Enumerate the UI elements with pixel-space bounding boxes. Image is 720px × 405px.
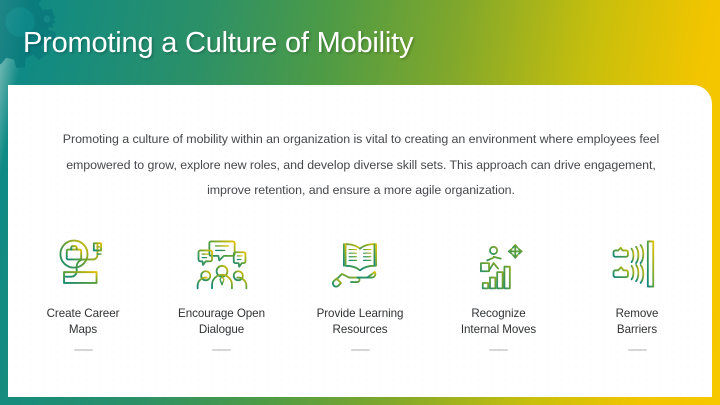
pillar-label-line2: Dialogue	[199, 323, 244, 336]
slide-canvas: Promoting a Culture of Mobility Promotin…	[0, 0, 720, 405]
pillar-label-line2: Barriers	[617, 323, 657, 336]
career-map-icon	[50, 233, 116, 295]
pillar-divider	[628, 349, 647, 352]
pillar-divider	[489, 349, 508, 352]
pillar-recognize-internal-moves[interactable]: Recognize Internal Moves	[430, 233, 568, 351]
career-ladder-move-icon	[466, 233, 532, 295]
pillar-label-line1: Encourage Open	[178, 307, 265, 320]
pillars-row: Create Career Maps	[14, 233, 706, 351]
pillar-encourage-open-dialogue[interactable]: Encourage Open Dialogue	[153, 233, 291, 351]
intro-paragraph: Promoting a culture of mobility within a…	[46, 127, 676, 203]
speech-bubbles-people-icon	[189, 233, 255, 295]
pillar-create-career-maps[interactable]: Create Career Maps	[14, 233, 152, 351]
pillar-divider	[212, 349, 231, 352]
pillar-remove-barriers[interactable]: Remove Barriers	[568, 233, 706, 351]
pillar-label: Create Career Maps	[47, 306, 120, 339]
pillar-label-line2: Internal Moves	[461, 323, 536, 336]
pillar-label: Remove Barriers	[616, 306, 659, 339]
pillar-label-line2: Maps	[69, 323, 97, 336]
content-card: Promoting a culture of mobility within a…	[8, 85, 712, 397]
pillar-label-line1: Recognize	[471, 307, 525, 320]
pillar-label: Recognize Internal Moves	[461, 306, 536, 339]
pillar-divider	[74, 349, 93, 352]
broken-barrier-icon	[604, 233, 670, 295]
pillar-divider	[351, 349, 370, 352]
book-on-hand-icon	[327, 233, 393, 295]
page-title: Promoting a Culture of Mobility	[23, 27, 413, 60]
pillar-label: Provide Learning Resources	[317, 306, 404, 339]
pillar-label-line1: Remove	[616, 307, 659, 320]
pillar-label-line1: Create Career	[47, 307, 120, 320]
pillar-label-line2: Resources	[333, 323, 388, 336]
pillar-label: Encourage Open Dialogue	[178, 306, 265, 339]
pillar-label-line1: Provide Learning	[317, 307, 404, 320]
pillar-provide-learning-resources[interactable]: Provide Learning Resources	[291, 233, 429, 351]
